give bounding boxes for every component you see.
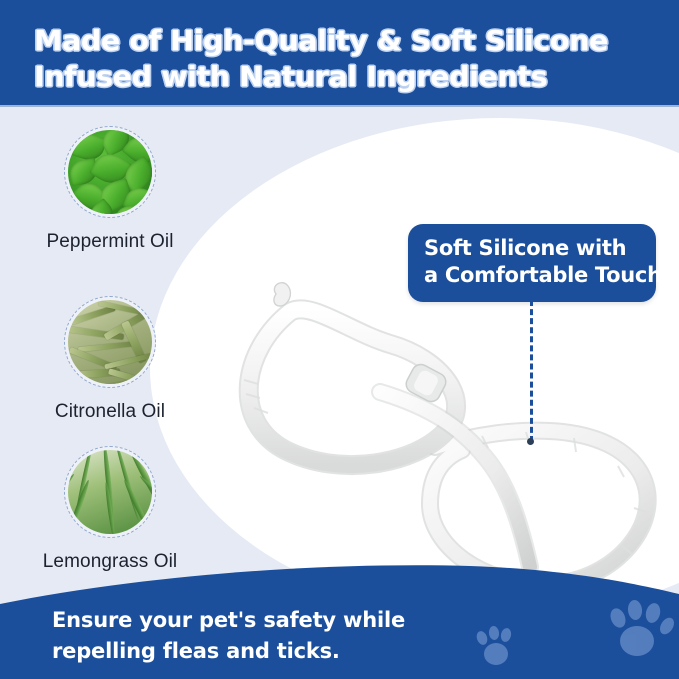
header-banner: Made of High-Quality & Soft Silicone Inf… (0, 0, 679, 107)
peppermint-leaves-photo (68, 130, 152, 214)
banner-line2: repelling fleas and ticks. (52, 636, 405, 667)
lemongrass-oil-icon (64, 446, 156, 538)
callout-line1: Soft Silicone with (424, 235, 640, 262)
ingredient-item-peppermint: Peppermint Oil (0, 126, 220, 253)
peppermint-oil-icon (64, 126, 156, 218)
ingredient-label: Peppermint Oil (0, 231, 220, 253)
callout-anchor-dot (527, 438, 534, 445)
callout-line2: a Comfortable Touch (424, 262, 640, 289)
banner-line1: Ensure your pet's safety while (52, 605, 405, 636)
ingredient-item-lemongrass: Lemongrass Oil (0, 446, 220, 573)
lemongrass-blades-photo (68, 450, 152, 534)
callout-badge-soft-silicone: Soft Silicone with a Comfortable Touch (408, 224, 656, 302)
citronella-oil-icon (64, 296, 156, 388)
header-title-line2: Infused with Natural Ingredients (34, 60, 677, 93)
header-title-line1: Made of High-Quality & Soft Silicone (34, 24, 677, 57)
ingredient-item-citronella: Citronella Oil (0, 296, 220, 423)
bottom-banner: Ensure your pet's safety while repelling… (0, 560, 679, 679)
callout-dashed-connector (530, 300, 533, 442)
infographic-canvas: Made of High-Quality & Soft Silicone Inf… (0, 0, 679, 679)
ingredient-label: Citronella Oil (0, 401, 220, 423)
citronella-stalks-photo (68, 300, 152, 384)
